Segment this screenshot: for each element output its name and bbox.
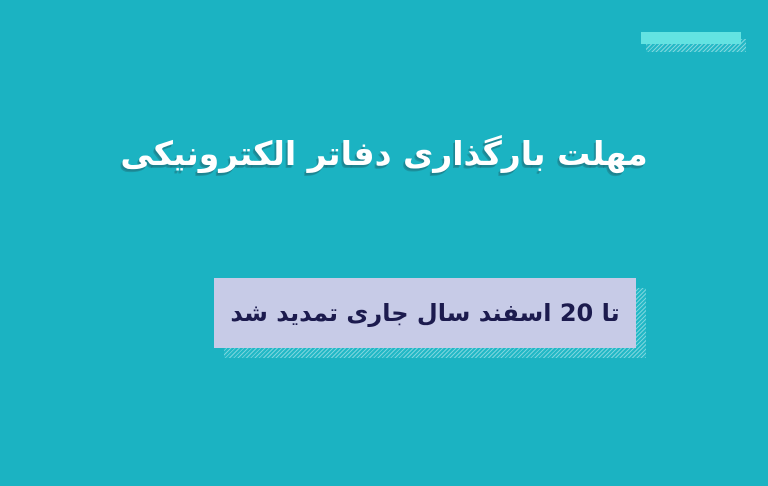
top-right-decoration xyxy=(641,32,741,54)
banner-title: مهلت بارگذاری دفاتر الکترونیکی xyxy=(0,112,768,196)
decoration-bar xyxy=(641,32,741,44)
banner-title-text: مهلت بارگذاری دفاتر الکترونیکی xyxy=(120,135,647,173)
banner-subtitle-plate: تا 20 اسفند سال جاری تمدید شد xyxy=(214,278,636,348)
announcement-banner: مهلت بارگذاری دفاتر الکترونیکی تا 20 اسف… xyxy=(0,0,768,486)
banner-subtitle-plate-wrapper: تا 20 اسفند سال جاری تمدید شد xyxy=(214,278,636,348)
banner-subtitle-text: تا 20 اسفند سال جاری تمدید شد xyxy=(230,299,619,327)
